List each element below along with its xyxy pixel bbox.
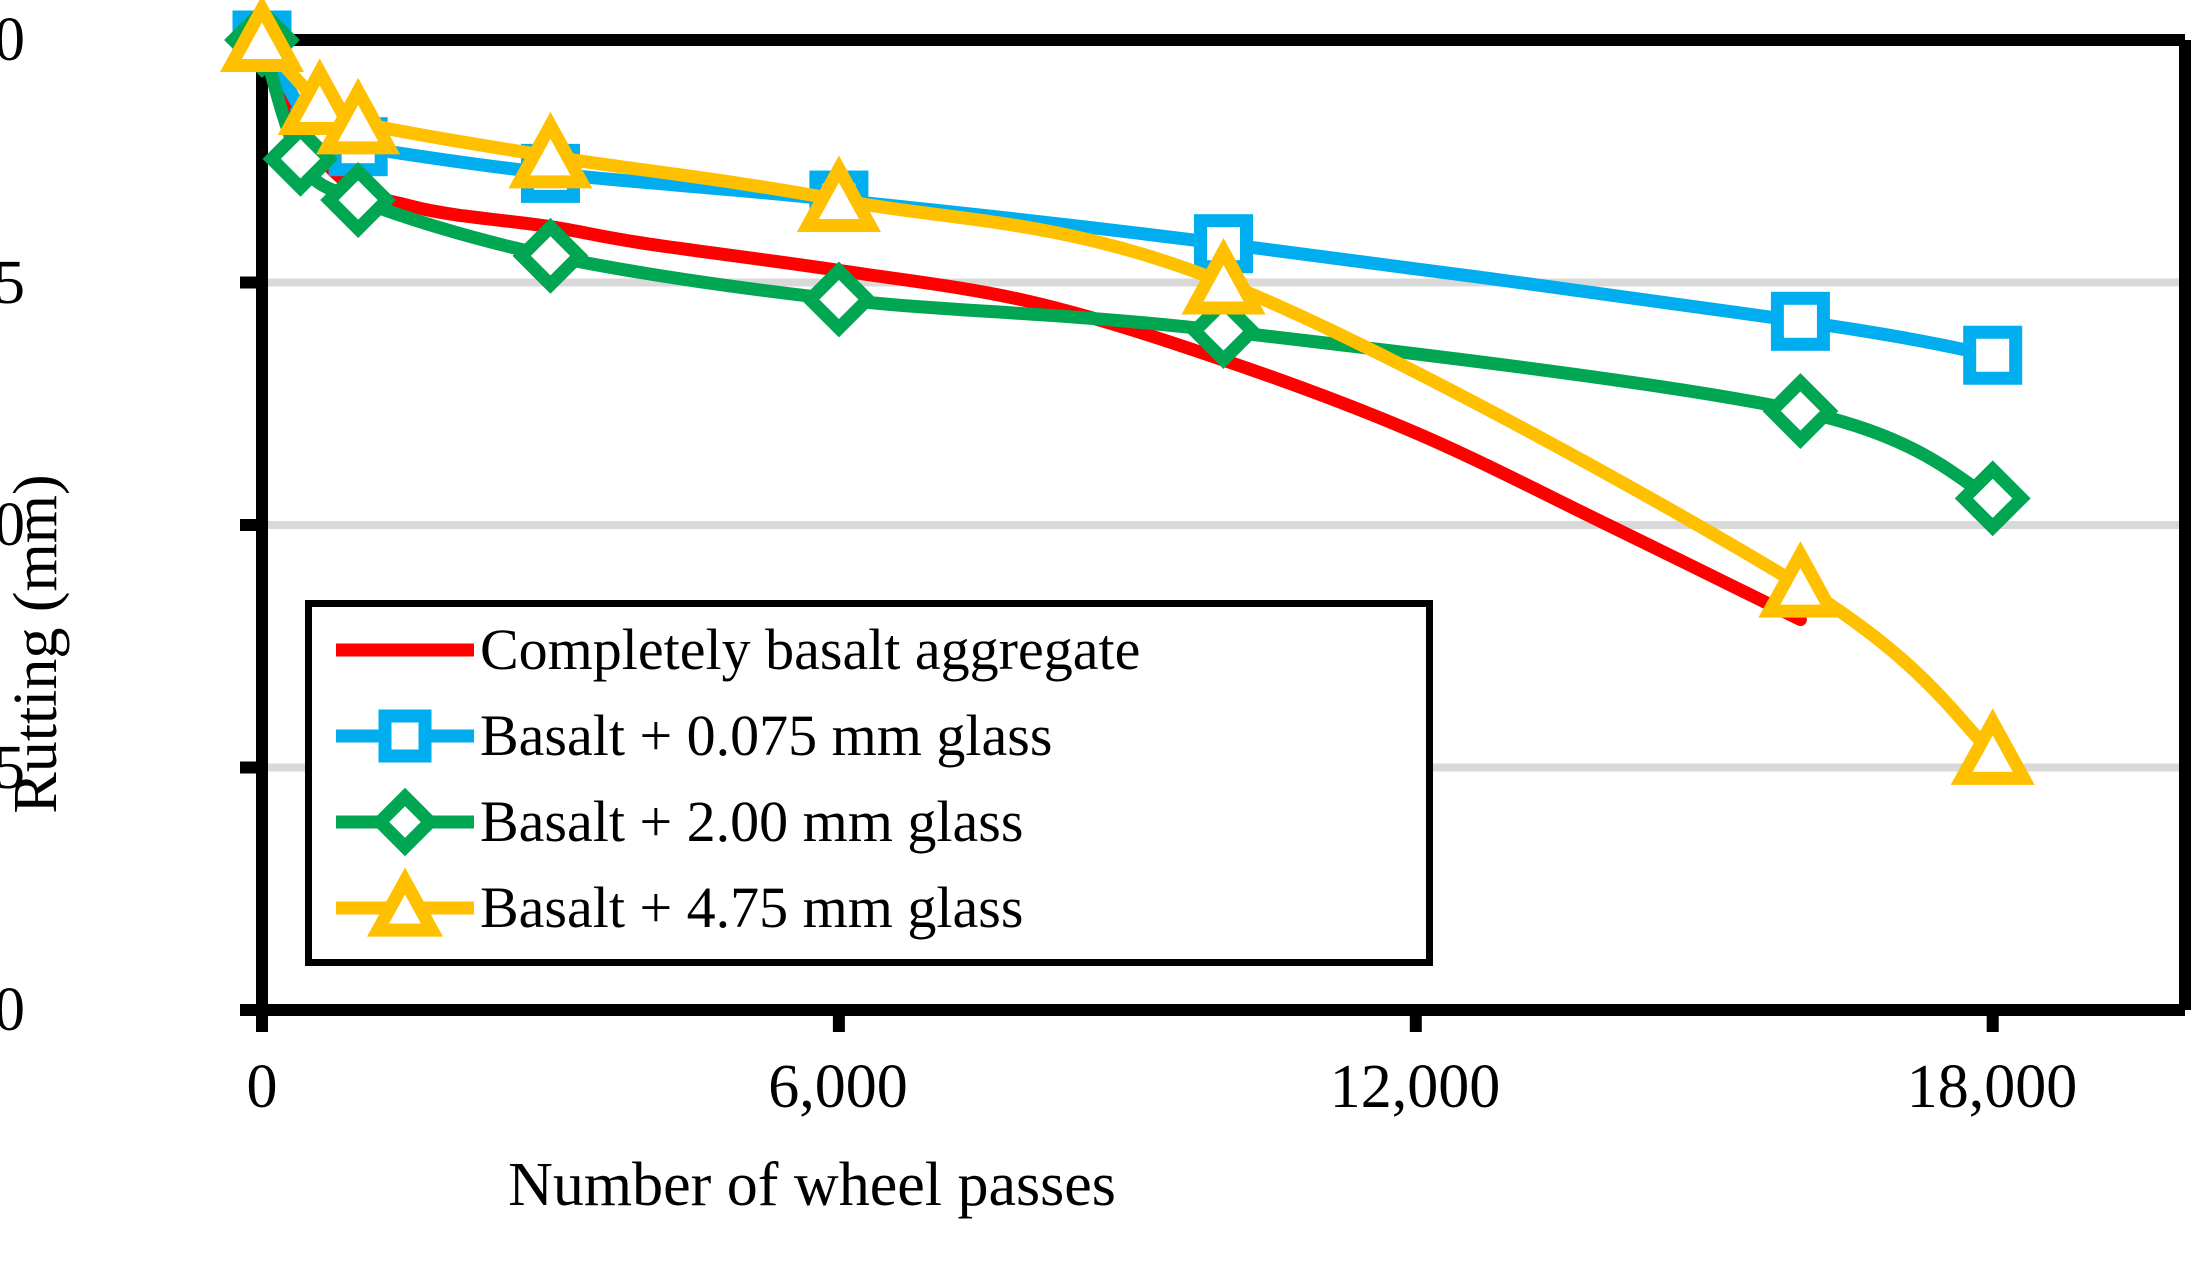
data-point-marker xyxy=(1970,332,2016,378)
rutting-line-chart: Rutting (mm) 0 5 10 15 20 0 6,000 12,000… xyxy=(0,0,2207,1266)
data-point-marker xyxy=(1964,470,2022,528)
data-point-marker xyxy=(1769,555,1831,612)
legend-entry-basalt: Completely basalt aggregate xyxy=(312,607,1426,693)
legend-swatch-diamond-green xyxy=(330,779,480,865)
series-1 xyxy=(262,40,1800,620)
legend-swatch-line-red xyxy=(330,607,480,693)
data-point-marker xyxy=(519,125,581,182)
series-3 xyxy=(233,11,2021,527)
data-point-marker xyxy=(1772,382,1830,440)
legend-swatch-square-blue xyxy=(330,693,480,779)
chart-legend: Completely basalt aggregate Basalt + 0.0… xyxy=(305,600,1433,966)
legend-label-glass-0075: Basalt + 0.075 mm glass xyxy=(480,706,1052,766)
legend-label-glass-200: Basalt + 2.00 mm glass xyxy=(480,792,1023,852)
legend-marker-icon xyxy=(330,865,480,951)
legend-swatch-triangle-yellow xyxy=(330,865,480,951)
legend-marker-icon xyxy=(330,607,480,693)
legend-marker-icon xyxy=(330,779,480,865)
legend-entry-glass-0075: Basalt + 0.075 mm glass xyxy=(312,693,1426,779)
legend-entry-glass-200: Basalt + 2.00 mm glass xyxy=(312,779,1426,865)
legend-label-basalt: Completely basalt aggregate xyxy=(480,620,1140,680)
legend-entry-glass-475: Basalt + 4.75 mm glass xyxy=(312,865,1426,951)
legend-label-glass-475: Basalt + 4.75 mm glass xyxy=(480,878,1023,938)
data-point-marker xyxy=(1777,298,1823,344)
legend-marker-icon xyxy=(330,693,480,779)
